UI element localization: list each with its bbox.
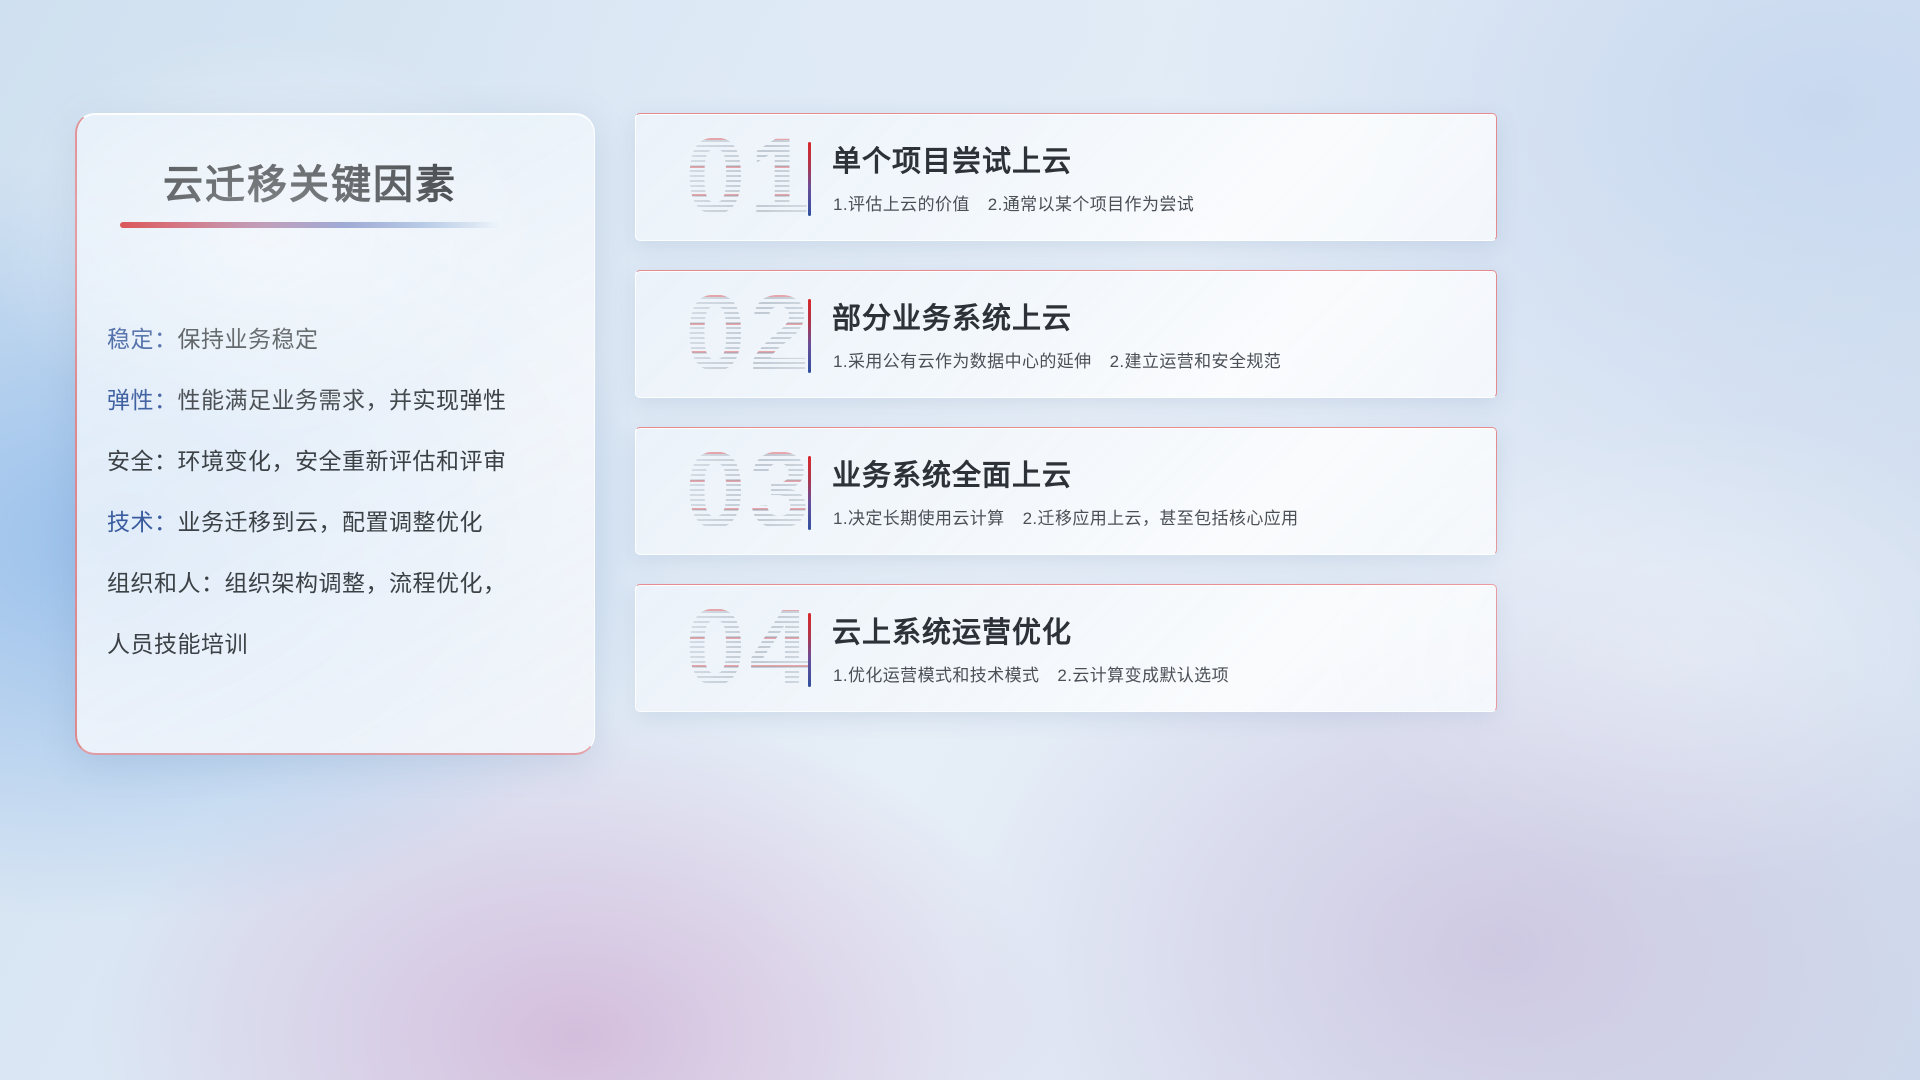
step-title: 单个项目尝试上云: [832, 138, 1072, 180]
step-title: 部分业务系统上云: [832, 295, 1072, 337]
slide-canvas: 云迁移关键因素 稳定：保持业务稳定弹性：性能满足业务需求，并实现弹性安全：环境变…: [0, 0, 1920, 1080]
key-factor-text: 业务迁移到云，配置调整优化: [178, 509, 484, 535]
key-factor-row: 稳定：保持业务稳定: [107, 309, 577, 370]
key-factor-label: 技术：: [107, 509, 178, 535]
step-points: 1.优化运营模式和技术模式2.云计算变成默认选项: [833, 661, 1229, 686]
step-points: 1.评估上云的价值2.通常以某个项目作为尝试: [833, 190, 1194, 215]
step-card[interactable]: 0202部分业务系统上云1.采用公有云作为数据中心的延伸2.建立运营和安全规范: [635, 270, 1497, 398]
step-divider-bar: [808, 613, 811, 687]
key-factor-row: 弹性：性能满足业务需求，并实现弹性: [107, 370, 577, 431]
key-factor-row: 技术：业务迁移到云，配置调整优化: [107, 492, 577, 553]
migration-steps-list: 0101单个项目尝试上云1.评估上云的价值2.通常以某个项目作为尝试0202部分…: [635, 113, 1497, 755]
step-point: 2.通常以某个项目作为尝试: [988, 195, 1194, 214]
key-factor-text: 组织架构调整，流程优化，: [225, 570, 507, 596]
key-factor-row: 组织和人：组织架构调整，流程优化，: [107, 553, 577, 614]
key-factors-list: 稳定：保持业务稳定弹性：性能满足业务需求，并实现弹性安全：环境变化，安全重新评估…: [107, 309, 577, 675]
key-factor-text: 性能满足业务需求，并实现弹性: [178, 387, 507, 413]
key-factor-text: 人员技能培训: [107, 631, 248, 657]
page-title: 云迁移关键因素: [163, 152, 457, 210]
step-title: 业务系统全面上云: [832, 452, 1072, 494]
step-point: 2.建立运营和安全规范: [1110, 352, 1282, 371]
step-point: 2.云计算变成默认选项: [1057, 666, 1229, 685]
step-card[interactable]: 0404云上系统运营优化1.优化运营模式和技术模式2.云计算变成默认选项: [635, 584, 1497, 712]
step-points: 1.决定长期使用云计算2.迁移应用上云，甚至包括核心应用: [833, 504, 1299, 529]
step-point: 1.优化运营模式和技术模式: [833, 666, 1039, 685]
key-factor-label: 组织和人：: [107, 570, 225, 596]
key-factor-text: 保持业务稳定: [178, 326, 319, 352]
step-points: 1.采用公有云作为数据中心的延伸2.建立运营和安全规范: [833, 347, 1281, 372]
step-divider-bar: [808, 299, 811, 373]
key-factor-text: 环境变化，安全重新评估和评审: [178, 448, 507, 474]
step-point: 2.迁移应用上云，甚至包括核心应用: [1023, 509, 1299, 528]
step-divider-bar: [808, 456, 811, 530]
key-factor-label: 安全：: [107, 448, 178, 474]
step-title: 云上系统运营优化: [832, 609, 1072, 651]
step-card[interactable]: 0303业务系统全面上云1.决定长期使用云计算2.迁移应用上云，甚至包括核心应用: [635, 427, 1497, 555]
key-factor-row: 人员技能培训: [107, 614, 577, 675]
key-factor-row: 安全：环境变化，安全重新评估和评审: [107, 431, 577, 492]
step-point: 1.评估上云的价值: [833, 195, 970, 214]
key-factor-label: 弹性：: [107, 387, 178, 413]
key-factors-panel: 云迁移关键因素 稳定：保持业务稳定弹性：性能满足业务需求，并实现弹性安全：环境变…: [75, 113, 595, 755]
step-divider-bar: [808, 142, 811, 216]
title-underline-rule: [120, 222, 500, 228]
key-factor-label: 稳定：: [107, 326, 178, 352]
step-card[interactable]: 0101单个项目尝试上云1.评估上云的价值2.通常以某个项目作为尝试: [635, 113, 1497, 241]
step-point: 1.决定长期使用云计算: [833, 509, 1005, 528]
step-point: 1.采用公有云作为数据中心的延伸: [833, 352, 1092, 371]
